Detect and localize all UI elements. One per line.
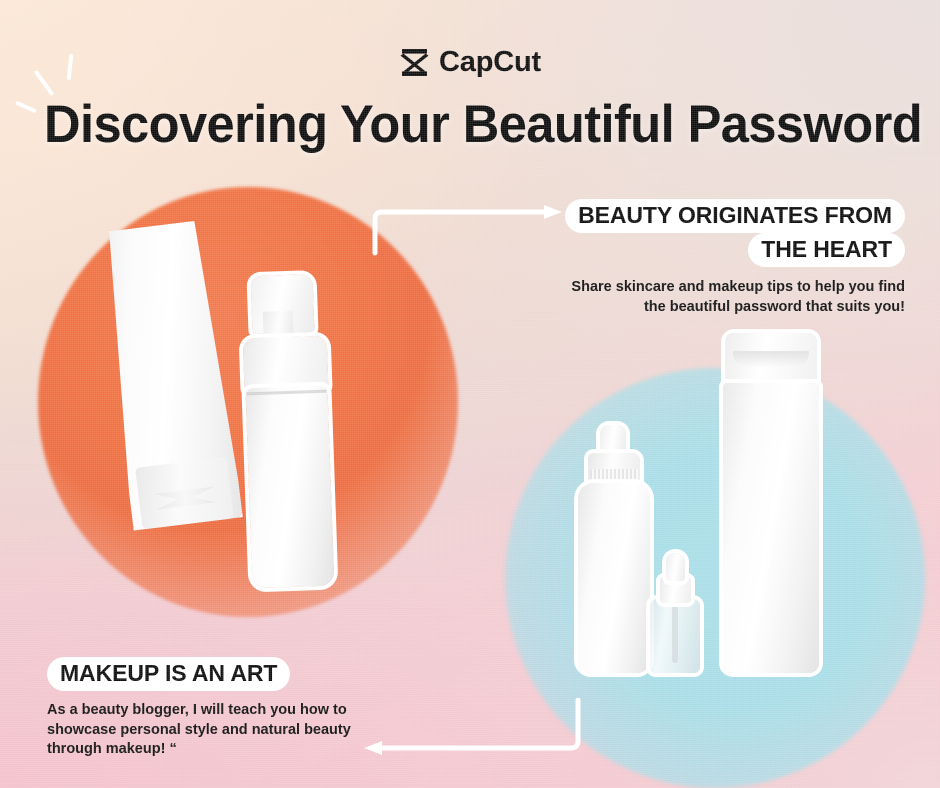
- capcut-logo-icon: [399, 49, 430, 76]
- spray-bottle-image: [578, 425, 656, 675]
- brand-logo: CapCut: [0, 46, 940, 79]
- right-heading-line1: BEAUTY ORIGINATES FROM: [565, 199, 905, 233]
- right-heading-line2: THE HEART: [748, 233, 905, 267]
- page-title: Discovering Your Beautiful Password: [44, 97, 867, 152]
- left-body-text: As a beauty blogger, I will teach you ho…: [47, 701, 407, 759]
- brand-name: CapCut: [439, 46, 541, 79]
- shampoo-bottle-image: [723, 333, 819, 675]
- glass-dropper-bottle-image: [650, 553, 702, 675]
- left-text-block: MAKEUP IS AN ART As a beauty blogger, I …: [47, 657, 407, 759]
- left-heading-line1: MAKEUP IS AN ART: [47, 657, 290, 691]
- poster-canvas: CapCut Discovering Your Beautiful Passwo…: [0, 0, 940, 788]
- right-text-block: BEAUTY ORIGINATES FROM THE HEART Share s…: [555, 199, 905, 317]
- right-body-text: Share skincare and makeup tips to help y…: [555, 278, 905, 317]
- foam-pump-bottle-image: [235, 273, 341, 591]
- arrow-right-icon: [366, 203, 571, 258]
